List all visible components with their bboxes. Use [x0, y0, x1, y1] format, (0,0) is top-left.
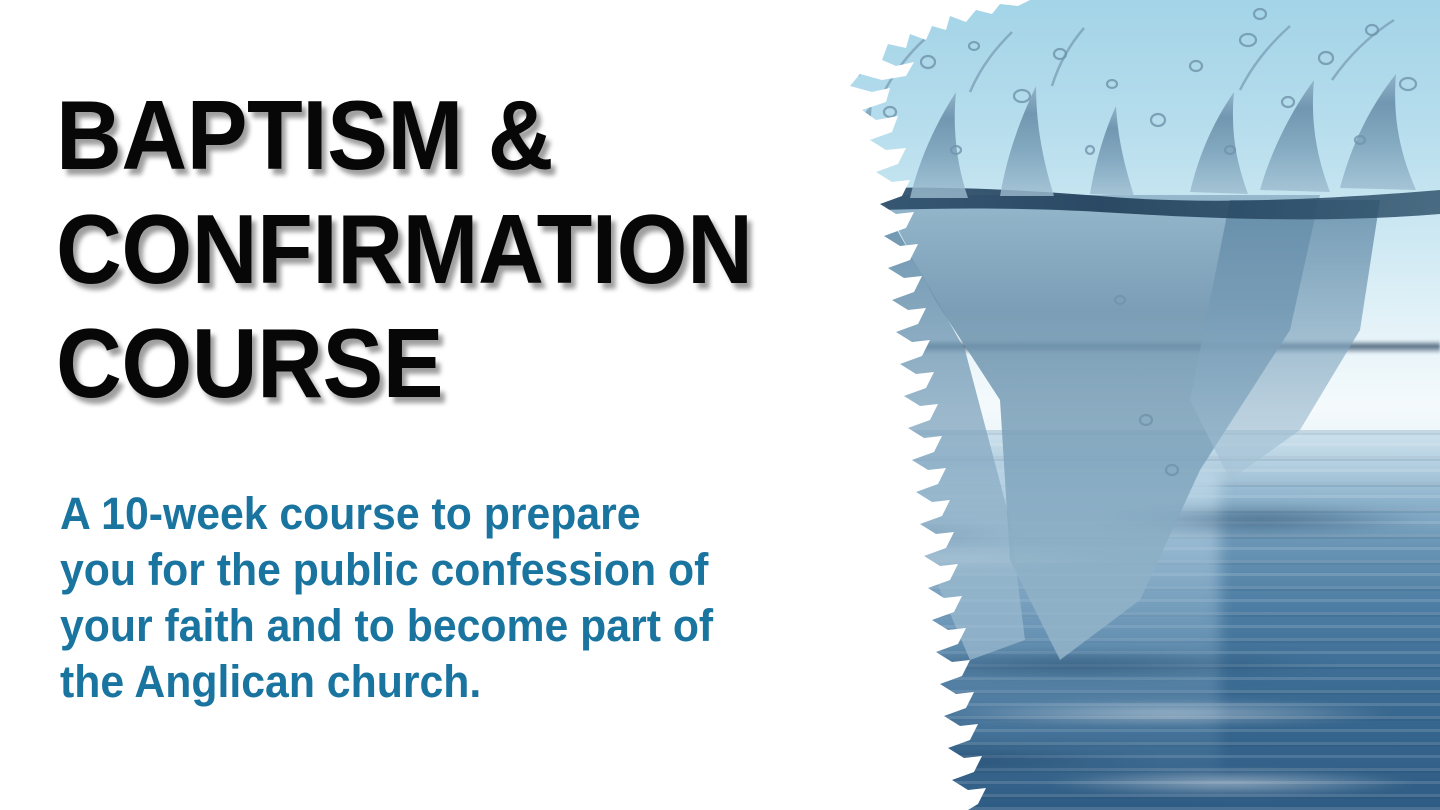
poster-canvas: BAPTISM & CONFIRMATION COURSE A 10-week …	[0, 0, 1440, 810]
page-subtitle: A 10-week course to prepare you for the …	[60, 486, 782, 710]
page-title: BAPTISM & CONFIRMATION COURSE	[56, 78, 912, 420]
